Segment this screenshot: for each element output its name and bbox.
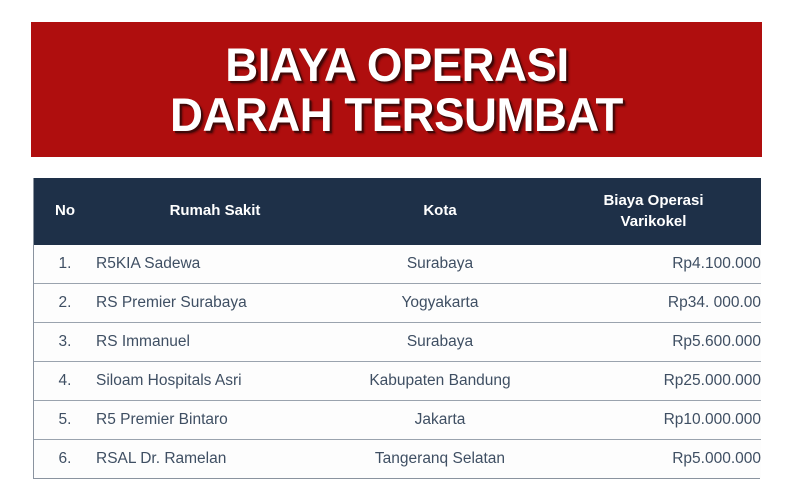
cell-no: 2. — [34, 284, 96, 323]
title-banner: BIAYA OPERASI DARAH TERSUMBAT — [31, 22, 762, 157]
table-row: 3. RS Immanuel Surabaya Rp5.600.000 — [34, 323, 761, 362]
cell-no: 1. — [34, 245, 96, 284]
cost-table-container: No Rumah Sakit Kota Biaya Operasi Variko… — [33, 178, 760, 479]
title-line-2: DARAH TERSUMBAT — [170, 90, 623, 140]
cell-hospital: RS Immanuel — [96, 323, 334, 362]
cell-city: Jakarta — [334, 401, 546, 440]
table-row: 6. RSAL Dr. Ramelan Tangeranq Selatan Rp… — [34, 440, 761, 479]
cell-hospital: R5KIA Sadewa — [96, 245, 334, 284]
cell-cost: Rp25.000.000 — [546, 362, 761, 401]
cell-city: Tangeranq Selatan — [334, 440, 546, 479]
table-row: 1. R5KIA Sadewa Surabaya Rp4.100.000 — [34, 245, 761, 284]
cell-city: Surabaya — [334, 323, 546, 362]
column-header-city: Kota — [334, 178, 546, 245]
cell-hospital: R5 Premier Bintaro — [96, 401, 334, 440]
table-row: 2. RS Premier Surabaya Yogyakarta Rp34. … — [34, 284, 761, 323]
table-body: 1. R5KIA Sadewa Surabaya Rp4.100.000 2. … — [34, 245, 761, 478]
cell-no: 6. — [34, 440, 96, 479]
cell-cost: Rp5.000.000 — [546, 440, 761, 479]
cell-hospital: Siloam Hospitals Asri — [96, 362, 334, 401]
column-header-cost: Biaya Operasi Varikokel — [546, 178, 761, 245]
cell-cost: Rp5.600.000 — [546, 323, 761, 362]
column-header-cost-line-1: Biaya Operasi — [546, 191, 761, 211]
cell-city: Kabupaten Bandung — [334, 362, 546, 401]
cell-no: 4. — [34, 362, 96, 401]
column-header-no: No — [34, 178, 96, 245]
cell-no: 5. — [34, 401, 96, 440]
cell-no: 3. — [34, 323, 96, 362]
column-header-hospital: Rumah Sakit — [96, 178, 334, 245]
cell-city: Surabaya — [334, 245, 546, 284]
title-line-1: BIAYA OPERASI — [225, 40, 568, 90]
poster-page: BIAYA OPERASI DARAH TERSUMBAT No Rumah S… — [0, 0, 800, 501]
table-header: No Rumah Sakit Kota Biaya Operasi Variko… — [34, 178, 761, 245]
cell-cost: Rp34. 000.00 — [546, 284, 761, 323]
cell-cost: Rp10.000.000 — [546, 401, 761, 440]
cost-table: No Rumah Sakit Kota Biaya Operasi Variko… — [34, 178, 761, 478]
column-header-cost-line-2: Varikokel — [546, 212, 761, 232]
table-row: 5. R5 Premier Bintaro Jakarta Rp10.000.0… — [34, 401, 761, 440]
cell-hospital: RSAL Dr. Ramelan — [96, 440, 334, 479]
cell-city: Yogyakarta — [334, 284, 546, 323]
cell-hospital: RS Premier Surabaya — [96, 284, 334, 323]
table-row: 4. Siloam Hospitals Asri Kabupaten Bandu… — [34, 362, 761, 401]
cell-cost: Rp4.100.000 — [546, 245, 761, 284]
table-header-row: No Rumah Sakit Kota Biaya Operasi Variko… — [34, 178, 761, 245]
